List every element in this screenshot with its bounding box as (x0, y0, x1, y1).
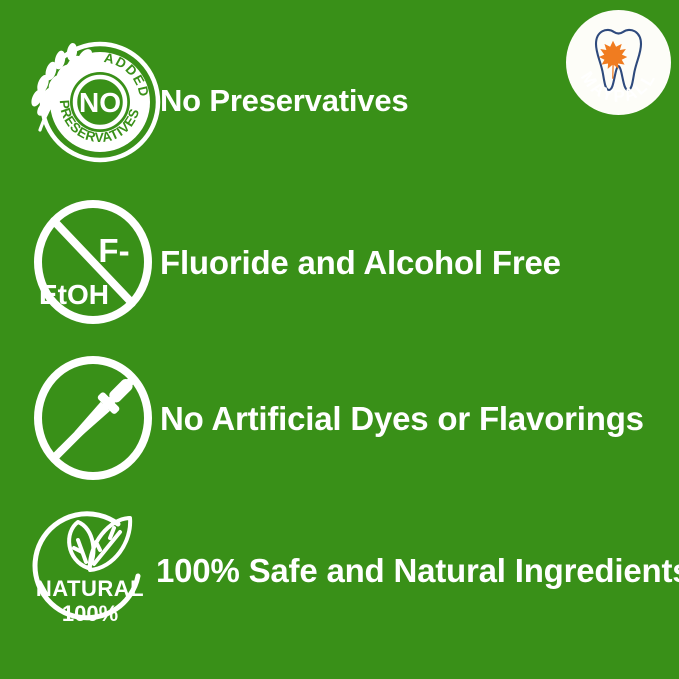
feature-badges-panel: MAYPALL NO ADDED (0, 0, 679, 679)
badge-center-text: NO (79, 87, 121, 118)
feature-row: NO ADDED PRESERVATIVES (26, 30, 408, 170)
natural-text: NATURAL (36, 576, 144, 601)
feature-row: NATURAL 100% 100% Safe and Natural Ingre… (26, 500, 679, 640)
feature-list: NO ADDED PRESERVATIVES (0, 0, 679, 679)
natural-100-percent-leaf-icon: NATURAL 100% (26, 500, 166, 640)
feature-row: No Artificial Dyes or Flavorings (26, 348, 644, 488)
leaf-icon-right (90, 518, 130, 570)
feature-label: 100% Safe and Natural Ingredients (156, 554, 679, 587)
feature-row: F- EtOH Fluoride and Alcohol Free (26, 192, 561, 332)
dropper-icon (48, 373, 139, 464)
feature-label: No Preservatives (160, 85, 408, 116)
feature-label: Fluoride and Alcohol Free (160, 246, 561, 279)
no-added-preservatives-badge-icon: NO ADDED PRESERVATIVES (26, 30, 166, 170)
no-fluoride-no-alcohol-icon: F- EtOH (26, 192, 166, 332)
percent-text: 100% (62, 601, 118, 626)
no-dropper-dye-icon (26, 348, 166, 488)
fluoride-symbol-text: F- (98, 232, 129, 269)
feature-label: No Artificial Dyes or Flavorings (160, 402, 644, 435)
ethanol-symbol-text: EtOH (39, 279, 109, 310)
